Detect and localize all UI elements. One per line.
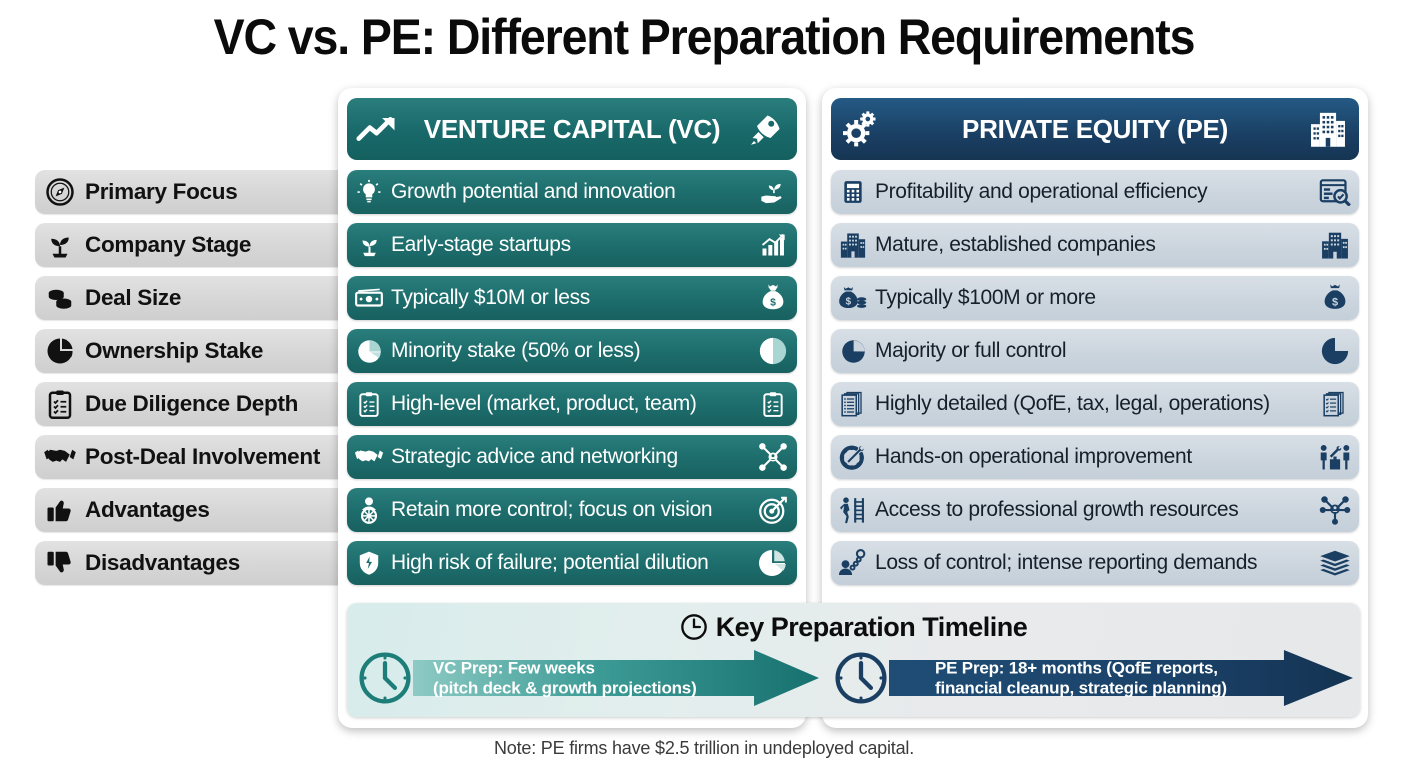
pe-row-text: Highly detailed (QofE, tax, legal, opera… xyxy=(875,392,1311,416)
pe-row-text: Mature, established companies xyxy=(875,233,1311,257)
pe-header-title: PRIVATE EQUITY (PE) xyxy=(893,114,1297,145)
banknote-icon xyxy=(347,286,391,310)
pe-row-disadvantages: Loss of control; intense reporting deman… xyxy=(831,541,1359,585)
seedling-icon xyxy=(35,230,85,260)
timeline-heading: Key Preparation Timeline xyxy=(347,610,1360,644)
pe-row-deal-size: $ Typically $100M or more $ xyxy=(831,276,1359,320)
vc-row-text: High risk of failure; potential dilution xyxy=(391,551,749,575)
row-label-text: Ownership Stake xyxy=(85,338,263,364)
pe-arrow-shape: PE Prep: 18+ months (QofE reports, finan… xyxy=(889,650,1353,706)
target-arrow-icon xyxy=(749,495,797,525)
row-label-text: Deal Size xyxy=(85,285,181,311)
svg-text:$: $ xyxy=(770,298,776,309)
vc-row-primary-focus: Growth potential and innovation xyxy=(347,170,797,214)
vc-timeline-arrow: VC Prep: Few weeks (pitch deck & growth … xyxy=(357,647,819,709)
vc-column-header: VENTURE CAPITAL (VC) xyxy=(347,98,797,160)
svg-text:$: $ xyxy=(1332,296,1338,308)
timeline-heading-text: Key Preparation Timeline xyxy=(716,612,1028,643)
pe-row-text: Loss of control; intense reporting deman… xyxy=(875,551,1311,575)
calculator-icon xyxy=(831,178,875,206)
row-label-text: Company Stage xyxy=(85,232,251,258)
broken-shield-icon xyxy=(347,549,391,577)
coins-icon xyxy=(35,283,85,313)
vc-row-text: Strategic advice and networking xyxy=(391,445,749,469)
documents-stack-icon xyxy=(831,390,875,418)
money-bag-coins-icon: $ xyxy=(831,284,875,312)
thumbs-down-icon xyxy=(35,548,85,578)
pie-majority-icon xyxy=(1311,336,1359,366)
pe-row-primary-focus: Profitability and operational efficiency xyxy=(831,170,1359,214)
hand-sprout-icon xyxy=(749,178,797,206)
office-building-icon xyxy=(1297,109,1359,149)
row-label-text: Due Diligence Depth xyxy=(85,391,298,417)
thumbs-up-icon xyxy=(35,495,85,525)
office-building-icon xyxy=(831,231,875,259)
half-pie-icon xyxy=(749,336,797,366)
row-label-disadvantages: Disadvantages xyxy=(35,541,365,585)
vc-row-advantages: Retain more control; focus on vision xyxy=(347,488,797,532)
seedling-icon xyxy=(347,232,391,259)
svg-text:$: $ xyxy=(846,296,852,307)
person-helm-icon xyxy=(347,496,391,524)
row-label-post-deal-involvement: Post-Deal Involvement xyxy=(35,435,365,479)
trend-up-arrow-icon xyxy=(347,112,409,146)
person-chain-icon xyxy=(831,549,875,577)
pe-row-text: Profitability and operational efficiency xyxy=(875,180,1311,204)
row-label-text: Post-Deal Involvement xyxy=(85,444,320,470)
network-nodes-icon xyxy=(1311,495,1359,525)
clock-icon xyxy=(680,613,708,641)
key-preparation-timeline: Key Preparation Timeline VC Prep: Few we… xyxy=(347,603,1360,717)
gears-icon xyxy=(831,109,893,149)
clock-icon xyxy=(833,651,889,705)
money-bag-icon: $ xyxy=(749,283,797,313)
pe-timeline-arrow: PE Prep: 18+ months (QofE reports, finan… xyxy=(833,647,1353,709)
vc-header-title: VENTURE CAPITAL (VC) xyxy=(409,114,735,145)
handshake-icon xyxy=(35,442,85,472)
vc-row-post-deal-involvement: Strategic advice and networking xyxy=(347,435,797,479)
pie-chart-icon xyxy=(831,338,875,365)
row-label-company-stage: Company Stage xyxy=(35,223,365,267)
pe-rows: Profitability and operational efficiency… xyxy=(831,170,1359,594)
row-label-text: Advantages xyxy=(85,497,210,523)
clipboard-check-icon xyxy=(347,390,391,418)
pe-row-post-deal-involvement: Hands-on operational improvement xyxy=(831,435,1359,479)
vc-row-text: Minority stake (50% or less) xyxy=(391,339,749,363)
page-title: VC vs. PE: Different Preparation Require… xyxy=(49,8,1358,66)
pe-row-text: Typically $100M or more xyxy=(875,286,1311,310)
audit-magnifier-icon xyxy=(1311,178,1359,206)
pe-row-due-diligence-depth: Highly detailed (QofE, tax, legal, opera… xyxy=(831,382,1359,426)
vc-row-text: Retain more control; focus on vision xyxy=(391,498,749,522)
money-bag-icon: $ xyxy=(1311,283,1359,313)
pie-dilution-icon xyxy=(749,548,797,578)
rocket-icon xyxy=(735,111,797,147)
pie-chart-icon xyxy=(35,336,85,366)
gear-wrench-icon xyxy=(831,443,875,471)
documents-check-icon xyxy=(1311,389,1359,419)
vc-row-text: Typically $10M or less xyxy=(391,286,749,310)
network-nodes-icon xyxy=(749,442,797,472)
row-label-advantages: Advantages xyxy=(35,488,365,532)
pe-row-ownership-stake: Majority or full control xyxy=(831,329,1359,373)
vc-arrow-label: VC Prep: Few weeks (pitch deck & growth … xyxy=(433,658,697,697)
row-label-due-diligence-depth: Due Diligence Depth xyxy=(35,382,365,426)
pe-arrow-label: PE Prep: 18+ months (QofE reports, finan… xyxy=(935,658,1227,697)
row-label-text: Disadvantages xyxy=(85,550,240,576)
pe-row-text: Majority or full control xyxy=(875,339,1311,363)
vc-row-company-stage: Early-stage startups xyxy=(347,223,797,267)
office-building-icon xyxy=(1311,230,1359,260)
vc-arrow-shape: VC Prep: Few weeks (pitch deck & growth … xyxy=(413,650,819,706)
row-label-text: Primary Focus xyxy=(85,179,237,205)
clipboard-check-icon xyxy=(35,389,85,419)
compass-icon xyxy=(35,177,85,207)
vc-rows: Growth potential and innovation Early-st… xyxy=(347,170,797,594)
pe-row-advantages: Access to professional growth resources xyxy=(831,488,1359,532)
footnote: Note: PE firms have $2.5 trillion in und… xyxy=(0,738,1408,759)
clipboard-check-icon xyxy=(749,389,797,419)
row-label-deal-size: Deal Size xyxy=(35,276,365,320)
pe-row-company-stage: Mature, established companies xyxy=(831,223,1359,267)
vc-row-text: Early-stage startups xyxy=(391,233,749,257)
vc-row-ownership-stake: Minority stake (50% or less) xyxy=(347,329,797,373)
pe-row-text: Hands-on operational improvement xyxy=(875,445,1311,469)
vc-row-disadvantages: High risk of failure; potential dilution xyxy=(347,541,797,585)
lightbulb-icon xyxy=(347,179,391,205)
pe-column-header: PRIVATE EQUITY (PE) xyxy=(831,98,1359,160)
ladder-climb-icon xyxy=(831,496,875,524)
vc-row-text: High-level (market, product, team) xyxy=(391,392,749,416)
vc-row-text: Growth potential and innovation xyxy=(391,180,749,204)
vc-row-due-diligence-depth: High-level (market, product, team) xyxy=(347,382,797,426)
clock-icon xyxy=(357,651,413,705)
pe-row-text: Access to professional growth resources xyxy=(875,498,1311,522)
row-label-primary-focus: Primary Focus xyxy=(35,170,365,214)
paper-stack-icon xyxy=(1311,549,1359,577)
handshake-icon xyxy=(347,444,391,470)
pie-chart-icon xyxy=(347,338,391,365)
bar-chart-growth-icon xyxy=(749,231,797,259)
row-label-column: Primary Focus Company Stage Deal Size Ow… xyxy=(35,170,365,594)
workers-repair-icon xyxy=(1311,443,1359,471)
vc-row-deal-size: Typically $10M or less $ xyxy=(347,276,797,320)
row-label-ownership-stake: Ownership Stake xyxy=(35,329,365,373)
